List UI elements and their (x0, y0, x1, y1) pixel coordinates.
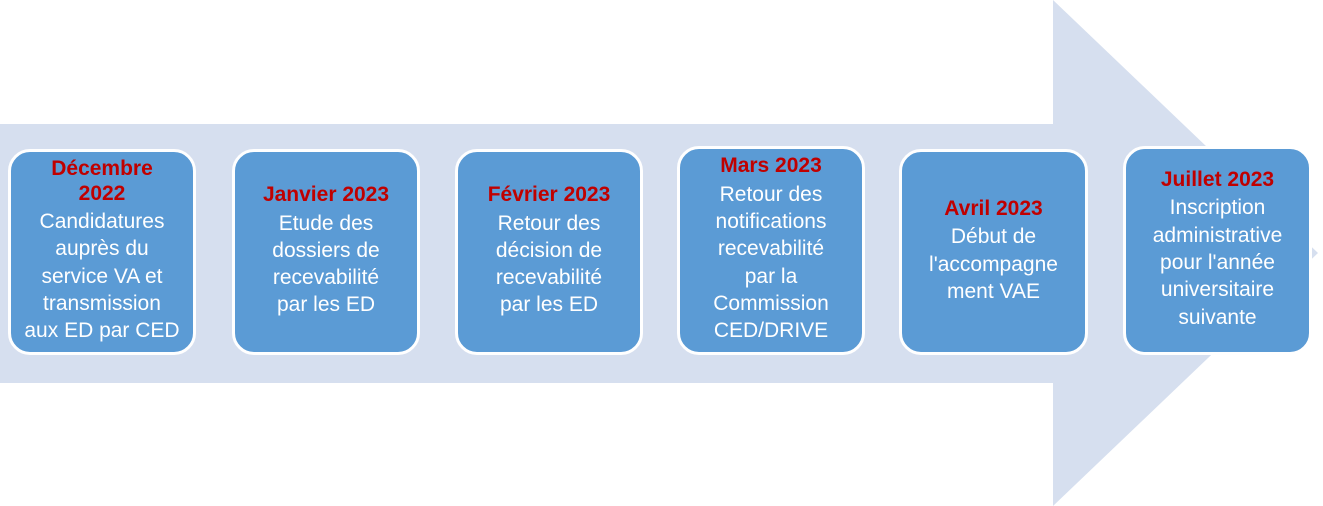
step-title: Décembre 2022 (51, 157, 153, 206)
step-body: Retour des décision de recevabilité par … (496, 210, 602, 319)
timeline-step-2[interactable]: Janvier 2023 Etude des dossiers de recev… (232, 149, 420, 355)
step-body: Etude des dossiers de recevabilité par l… (272, 210, 379, 319)
step-title: Février 2023 (488, 183, 611, 207)
step-body: Inscription administrative pour l'année … (1153, 194, 1283, 330)
timeline-step-6[interactable]: Juillet 2023 Inscription administrative … (1123, 146, 1312, 355)
step-title: Avril 2023 (944, 197, 1042, 221)
step-title: Janvier 2023 (263, 183, 389, 207)
timeline-steps: Décembre 2022 Candidatures auprès du ser… (0, 0, 1323, 506)
step-body: Candidatures auprès du service VA et tra… (24, 208, 179, 344)
step-body: Début de l'accompagne ment VAE (929, 223, 1058, 305)
step-title: Mars 2023 (720, 154, 822, 178)
step-body: Retour des notifications recevabilité pa… (713, 181, 829, 345)
timeline-step-3[interactable]: Février 2023 Retour des décision de rece… (455, 149, 643, 355)
timeline-step-4[interactable]: Mars 2023 Retour des notifications recev… (677, 146, 865, 355)
timeline-step-1[interactable]: Décembre 2022 Candidatures auprès du ser… (8, 149, 196, 355)
step-title: Juillet 2023 (1161, 168, 1274, 192)
timeline-diagram: Décembre 2022 Candidatures auprès du ser… (0, 0, 1323, 506)
timeline-step-5[interactable]: Avril 2023 Début de l'accompagne ment VA… (899, 149, 1088, 355)
